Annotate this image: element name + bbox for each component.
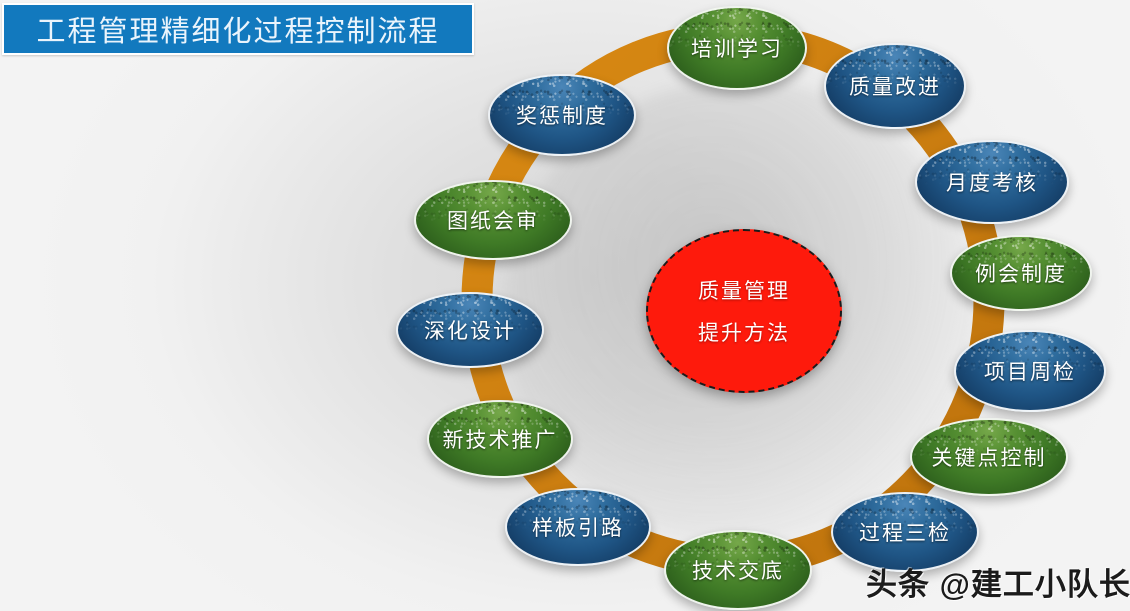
process-node-label: 例会制度 [975,258,1067,288]
process-node-label: 培训学习 [691,33,783,63]
process-node-6[interactable]: 关键点控制 [910,418,1068,496]
process-node-2[interactable]: 质量改进 [824,43,966,129]
process-node-label: 样板引路 [532,512,624,542]
page-title-box: 工程管理精细化过程控制流程 [2,3,474,55]
process-node-label: 奖惩制度 [516,100,608,130]
center-label-line2: 提升方法 [698,317,790,347]
center-node: 质量管理 提升方法 [646,229,842,393]
process-node-label: 技术交底 [692,555,784,585]
process-node-label: 新技术推广 [443,424,558,454]
process-node-label: 项目周检 [984,356,1076,386]
center-label-line1: 质量管理 [698,275,790,305]
process-node-4[interactable]: 例会制度 [950,235,1092,311]
process-node-8[interactable]: 技术交底 [664,530,812,610]
process-node-1[interactable]: 培训学习 [667,6,807,90]
process-node-label: 图纸会审 [447,205,539,235]
process-node-3[interactable]: 月度考核 [915,140,1069,224]
process-node-10[interactable]: 新技术推广 [427,400,573,478]
process-node-label: 过程三检 [859,517,951,547]
process-node-12[interactable]: 图纸会审 [414,180,572,260]
process-node-13[interactable]: 奖惩制度 [488,74,636,156]
process-node-9[interactable]: 样板引路 [505,488,651,566]
process-node-11[interactable]: 深化设计 [396,292,544,368]
watermark: 头条 @建工小队长 [866,559,1130,604]
process-node-label: 月度考核 [946,167,1038,197]
process-node-label: 质量改进 [849,71,941,101]
page-title: 工程管理精细化过程控制流程 [36,8,439,50]
process-node-label: 关键点控制 [932,442,1047,472]
process-node-label: 深化设计 [424,315,516,345]
center-ellipse: 质量管理 提升方法 [646,229,842,393]
process-node-5[interactable]: 项目周检 [954,330,1106,412]
